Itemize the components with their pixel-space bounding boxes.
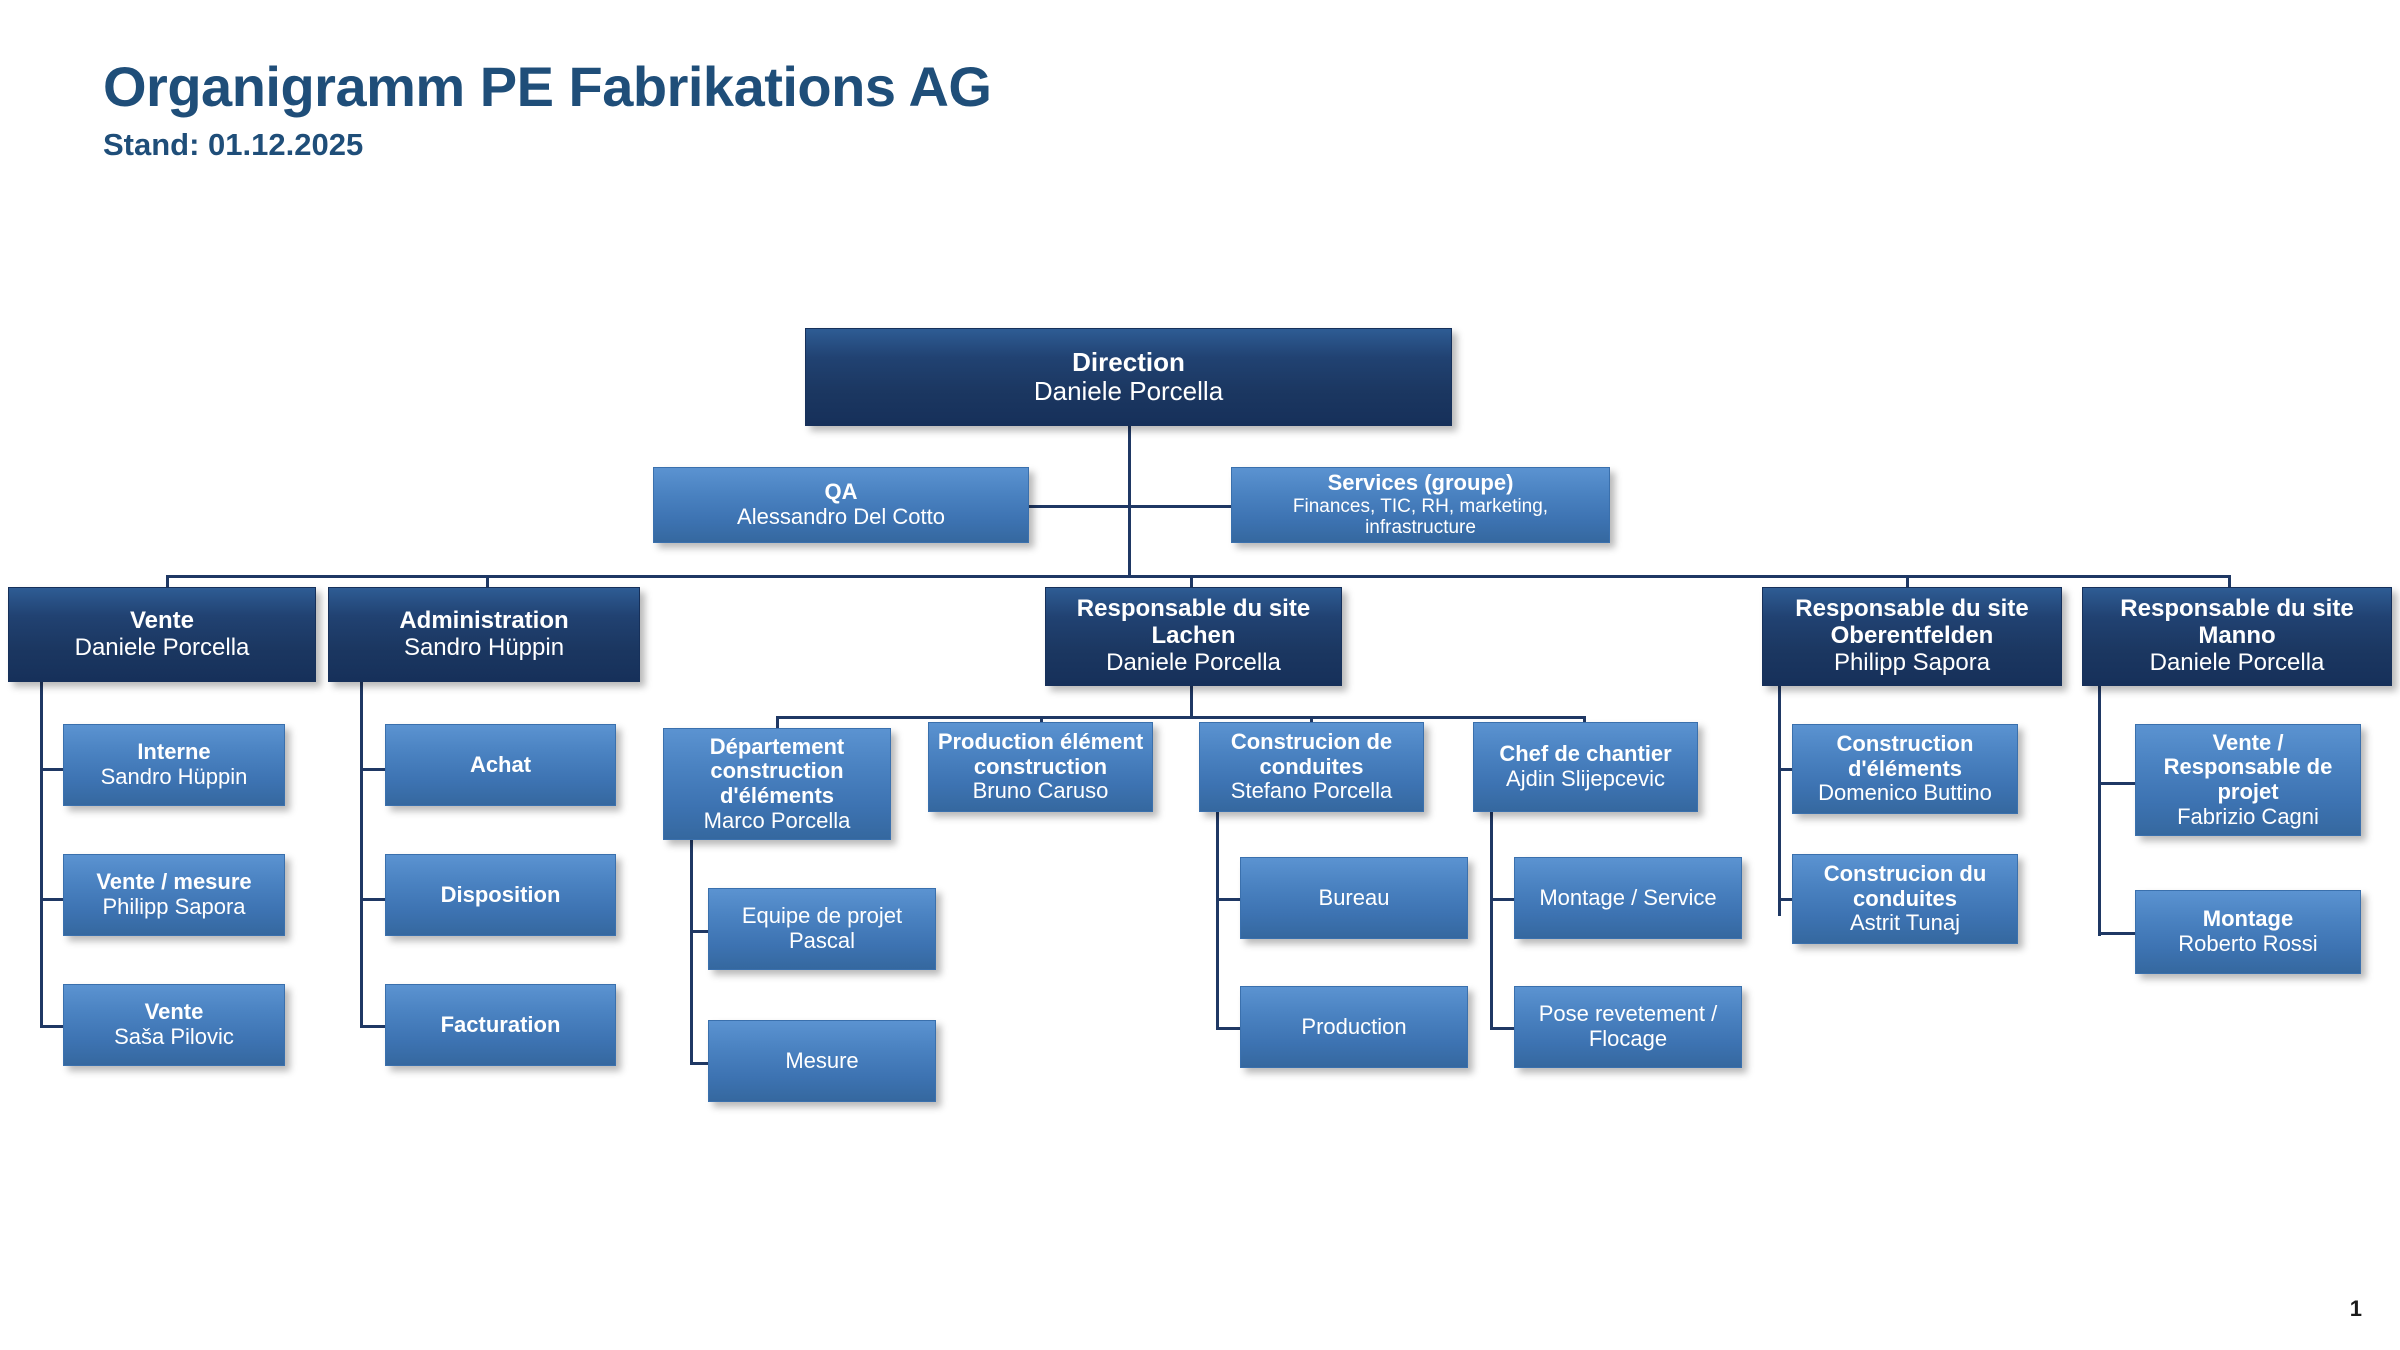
node-construcion-conduites-ob-person: Astrit Tunaj: [1850, 911, 1960, 936]
node-facturation-title: Facturation: [441, 1013, 561, 1038]
node-vente-sub-title: Vente: [145, 1000, 204, 1025]
node-pose-revetement-label: Pose revetement / Flocage: [1521, 1002, 1735, 1051]
connector-qa-horizontal: [1028, 505, 1130, 508]
node-administration-person: Sandro Hüppin: [404, 635, 564, 662]
connector-conduites-stub-1: [1216, 898, 1241, 901]
node-bureau[interactable]: Bureau: [1240, 857, 1468, 939]
node-services[interactable]: Services (groupe) Finances, TIC, RH, mar…: [1231, 467, 1610, 543]
connector-drop-vente: [166, 575, 169, 587]
node-vente-title: Vente: [130, 608, 194, 635]
connector-lachen-down: [1190, 686, 1193, 716]
node-administration-title: Administration: [399, 608, 568, 635]
connector-lachen-bus: [776, 716, 1586, 719]
connector-admin-stub-1: [360, 768, 386, 771]
node-site-oberentfelden-title: Responsable du site Oberentfelden: [1769, 596, 2055, 650]
connector-manno-stub-2: [2098, 932, 2136, 935]
org-chart-slide: Organigramm PE Fabrikations AG Stand: 01…: [0, 0, 2400, 1350]
node-achat[interactable]: Achat: [385, 724, 616, 806]
connector-drop-manno: [2228, 575, 2231, 587]
node-production[interactable]: Production: [1240, 986, 1468, 1068]
node-services-person: Finances, TIC, RH, marketing, infrastruc…: [1238, 496, 1603, 539]
node-site-lachen-person: Daniele Porcella: [1106, 650, 1281, 677]
node-direction-person: Daniele Porcella: [1034, 377, 1223, 406]
connector-manno-spine: [2098, 686, 2101, 936]
node-mesure[interactable]: Mesure: [708, 1020, 936, 1102]
connector-lachen-drop-1: [776, 716, 779, 728]
node-construcion-conduites-ob-title: Construcion du conduites: [1799, 862, 2011, 911]
connector-vente-spine: [40, 682, 43, 1027]
connector-direction-down: [1128, 425, 1131, 577]
node-facturation[interactable]: Facturation: [385, 984, 616, 1066]
connector-admin-spine: [360, 682, 363, 1027]
connector-services-horizontal: [1128, 505, 1232, 508]
connector-oberentfelden-stub-1: [1778, 768, 1793, 771]
node-disposition-title: Disposition: [441, 883, 561, 908]
connector-dept-construction-stub-2: [690, 1062, 709, 1065]
connector-drop-administration: [486, 575, 489, 587]
node-vente-mesure-person: Philipp Sapora: [102, 895, 245, 920]
node-site-oberentfelden[interactable]: Responsable du site Oberentfelden Philip…: [1762, 587, 2062, 686]
node-mesure-label: Mesure: [785, 1049, 858, 1074]
node-qa[interactable]: QA Alessandro Del Cotto: [653, 467, 1029, 543]
node-services-title: Services (groupe): [1328, 471, 1514, 496]
connector-vente-stub-2: [40, 898, 64, 901]
connector-conduites-stub-2: [1216, 1027, 1241, 1030]
node-dept-construction-title: Département construction d'éléments: [670, 735, 884, 809]
node-direction[interactable]: Direction Daniele Porcella: [805, 328, 1452, 426]
node-interne[interactable]: Interne Sandro Hüppin: [63, 724, 285, 806]
node-montage-manno[interactable]: Montage Roberto Rossi: [2135, 890, 2361, 974]
node-construcion-conduites-ob[interactable]: Construcion du conduites Astrit Tunaj: [1792, 854, 2018, 944]
connector-chef-chantier-spine: [1490, 812, 1493, 1028]
connector-vente-stub-3: [40, 1025, 64, 1028]
connector-chef-chantier-stub-1: [1490, 898, 1515, 901]
node-montage-service-label: Montage / Service: [1539, 886, 1716, 911]
node-construction-elements-ob-person: Domenico Buttino: [1818, 781, 1992, 806]
node-chef-chantier-person: Ajdin Slijepcevic: [1506, 767, 1665, 792]
node-achat-title: Achat: [470, 753, 531, 778]
node-montage-manno-title: Montage: [2203, 907, 2293, 932]
node-site-oberentfelden-person: Philipp Sapora: [1834, 650, 1990, 677]
node-montage-service[interactable]: Montage / Service: [1514, 857, 1742, 939]
node-construction-elements-ob-title: Construction d'éléments: [1799, 732, 2011, 781]
node-dept-construction[interactable]: Département construction d'éléments Marc…: [663, 728, 891, 840]
connector-dept-construction-stub-1: [690, 930, 709, 933]
connector-dept-construction-spine: [690, 840, 693, 1064]
node-vente-mesure-title: Vente / mesure: [96, 870, 251, 895]
node-vente-resp-projet[interactable]: Vente / Responsable de projet Fabrizio C…: [2135, 724, 2361, 836]
node-dept-construction-person: Marco Porcella: [704, 809, 851, 834]
node-chef-chantier-title: Chef de chantier: [1499, 742, 1671, 767]
node-chef-chantier[interactable]: Chef de chantier Ajdin Slijepcevic: [1473, 722, 1698, 812]
node-vente-mesure[interactable]: Vente / mesure Philipp Sapora: [63, 854, 285, 936]
node-bureau-label: Bureau: [1319, 886, 1390, 911]
node-site-manno-title: Responsable du site Manno: [2089, 596, 2385, 650]
node-production-label: Production: [1301, 1015, 1406, 1040]
node-qa-person: Alessandro Del Cotto: [737, 505, 945, 530]
node-construction-elements-ob[interactable]: Construction d'éléments Domenico Buttino: [1792, 724, 2018, 814]
node-equipe-projet-label: Equipe de projet Pascal: [715, 904, 929, 953]
node-construcion-conduites-title: Construcion de conduites: [1206, 730, 1417, 779]
node-construcion-conduites-person: Stefano Porcella: [1231, 779, 1392, 804]
connector-conduites-spine: [1216, 812, 1219, 1028]
connector-oberentfelden-spine: [1778, 686, 1781, 916]
node-interne-title: Interne: [137, 740, 210, 765]
connector-chef-chantier-stub-2: [1490, 1027, 1515, 1030]
page-number: 1: [2350, 1296, 2362, 1322]
connector-manno-stub-1: [2098, 782, 2136, 785]
connector-admin-stub-3: [360, 1025, 386, 1028]
node-site-lachen[interactable]: Responsable du site Lachen Daniele Porce…: [1045, 587, 1342, 686]
title-block: Organigramm PE Fabrikations AG Stand: 01…: [103, 58, 991, 163]
connector-admin-stub-2: [360, 898, 386, 901]
node-vente-sub-person: Saša Pilovic: [114, 1025, 234, 1050]
connector-department-bus: [166, 575, 2230, 578]
node-disposition[interactable]: Disposition: [385, 854, 616, 936]
node-site-lachen-title: Responsable du site Lachen: [1052, 596, 1335, 650]
node-production-element[interactable]: Production élément construction Bruno Ca…: [928, 722, 1153, 812]
node-equipe-projet[interactable]: Equipe de projet Pascal: [708, 888, 936, 970]
node-qa-title: QA: [825, 480, 858, 505]
node-site-manno[interactable]: Responsable du site Manno Daniele Porcel…: [2082, 587, 2392, 686]
node-production-element-title: Production élément construction: [935, 730, 1146, 779]
node-production-element-person: Bruno Caruso: [973, 779, 1109, 804]
node-direction-title: Direction: [1072, 348, 1185, 377]
page-subtitle: Stand: 01.12.2025: [103, 127, 991, 163]
node-construcion-conduites[interactable]: Construcion de conduites Stefano Porcell…: [1199, 722, 1424, 812]
connector-vente-stub-1: [40, 768, 64, 771]
connector-drop-lachen: [1190, 575, 1193, 587]
node-vente-resp-projet-title: Vente / Responsable de projet: [2142, 731, 2354, 805]
connector-oberentfelden-stub-2: [1778, 898, 1793, 901]
node-vente-sub[interactable]: Vente Saša Pilovic: [63, 984, 285, 1066]
node-pose-revetement[interactable]: Pose revetement / Flocage: [1514, 986, 1742, 1068]
node-montage-manno-person: Roberto Rossi: [2178, 932, 2317, 957]
node-vente-resp-projet-person: Fabrizio Cagni: [2177, 805, 2319, 830]
node-interne-person: Sandro Hüppin: [101, 765, 248, 790]
connector-drop-oberentfelden: [1906, 575, 1909, 587]
page-title: Organigramm PE Fabrikations AG: [103, 58, 991, 117]
node-vente-person: Daniele Porcella: [75, 635, 250, 662]
node-administration[interactable]: Administration Sandro Hüppin: [328, 587, 640, 682]
node-vente[interactable]: Vente Daniele Porcella: [8, 587, 316, 682]
node-site-manno-person: Daniele Porcella: [2150, 650, 2325, 677]
